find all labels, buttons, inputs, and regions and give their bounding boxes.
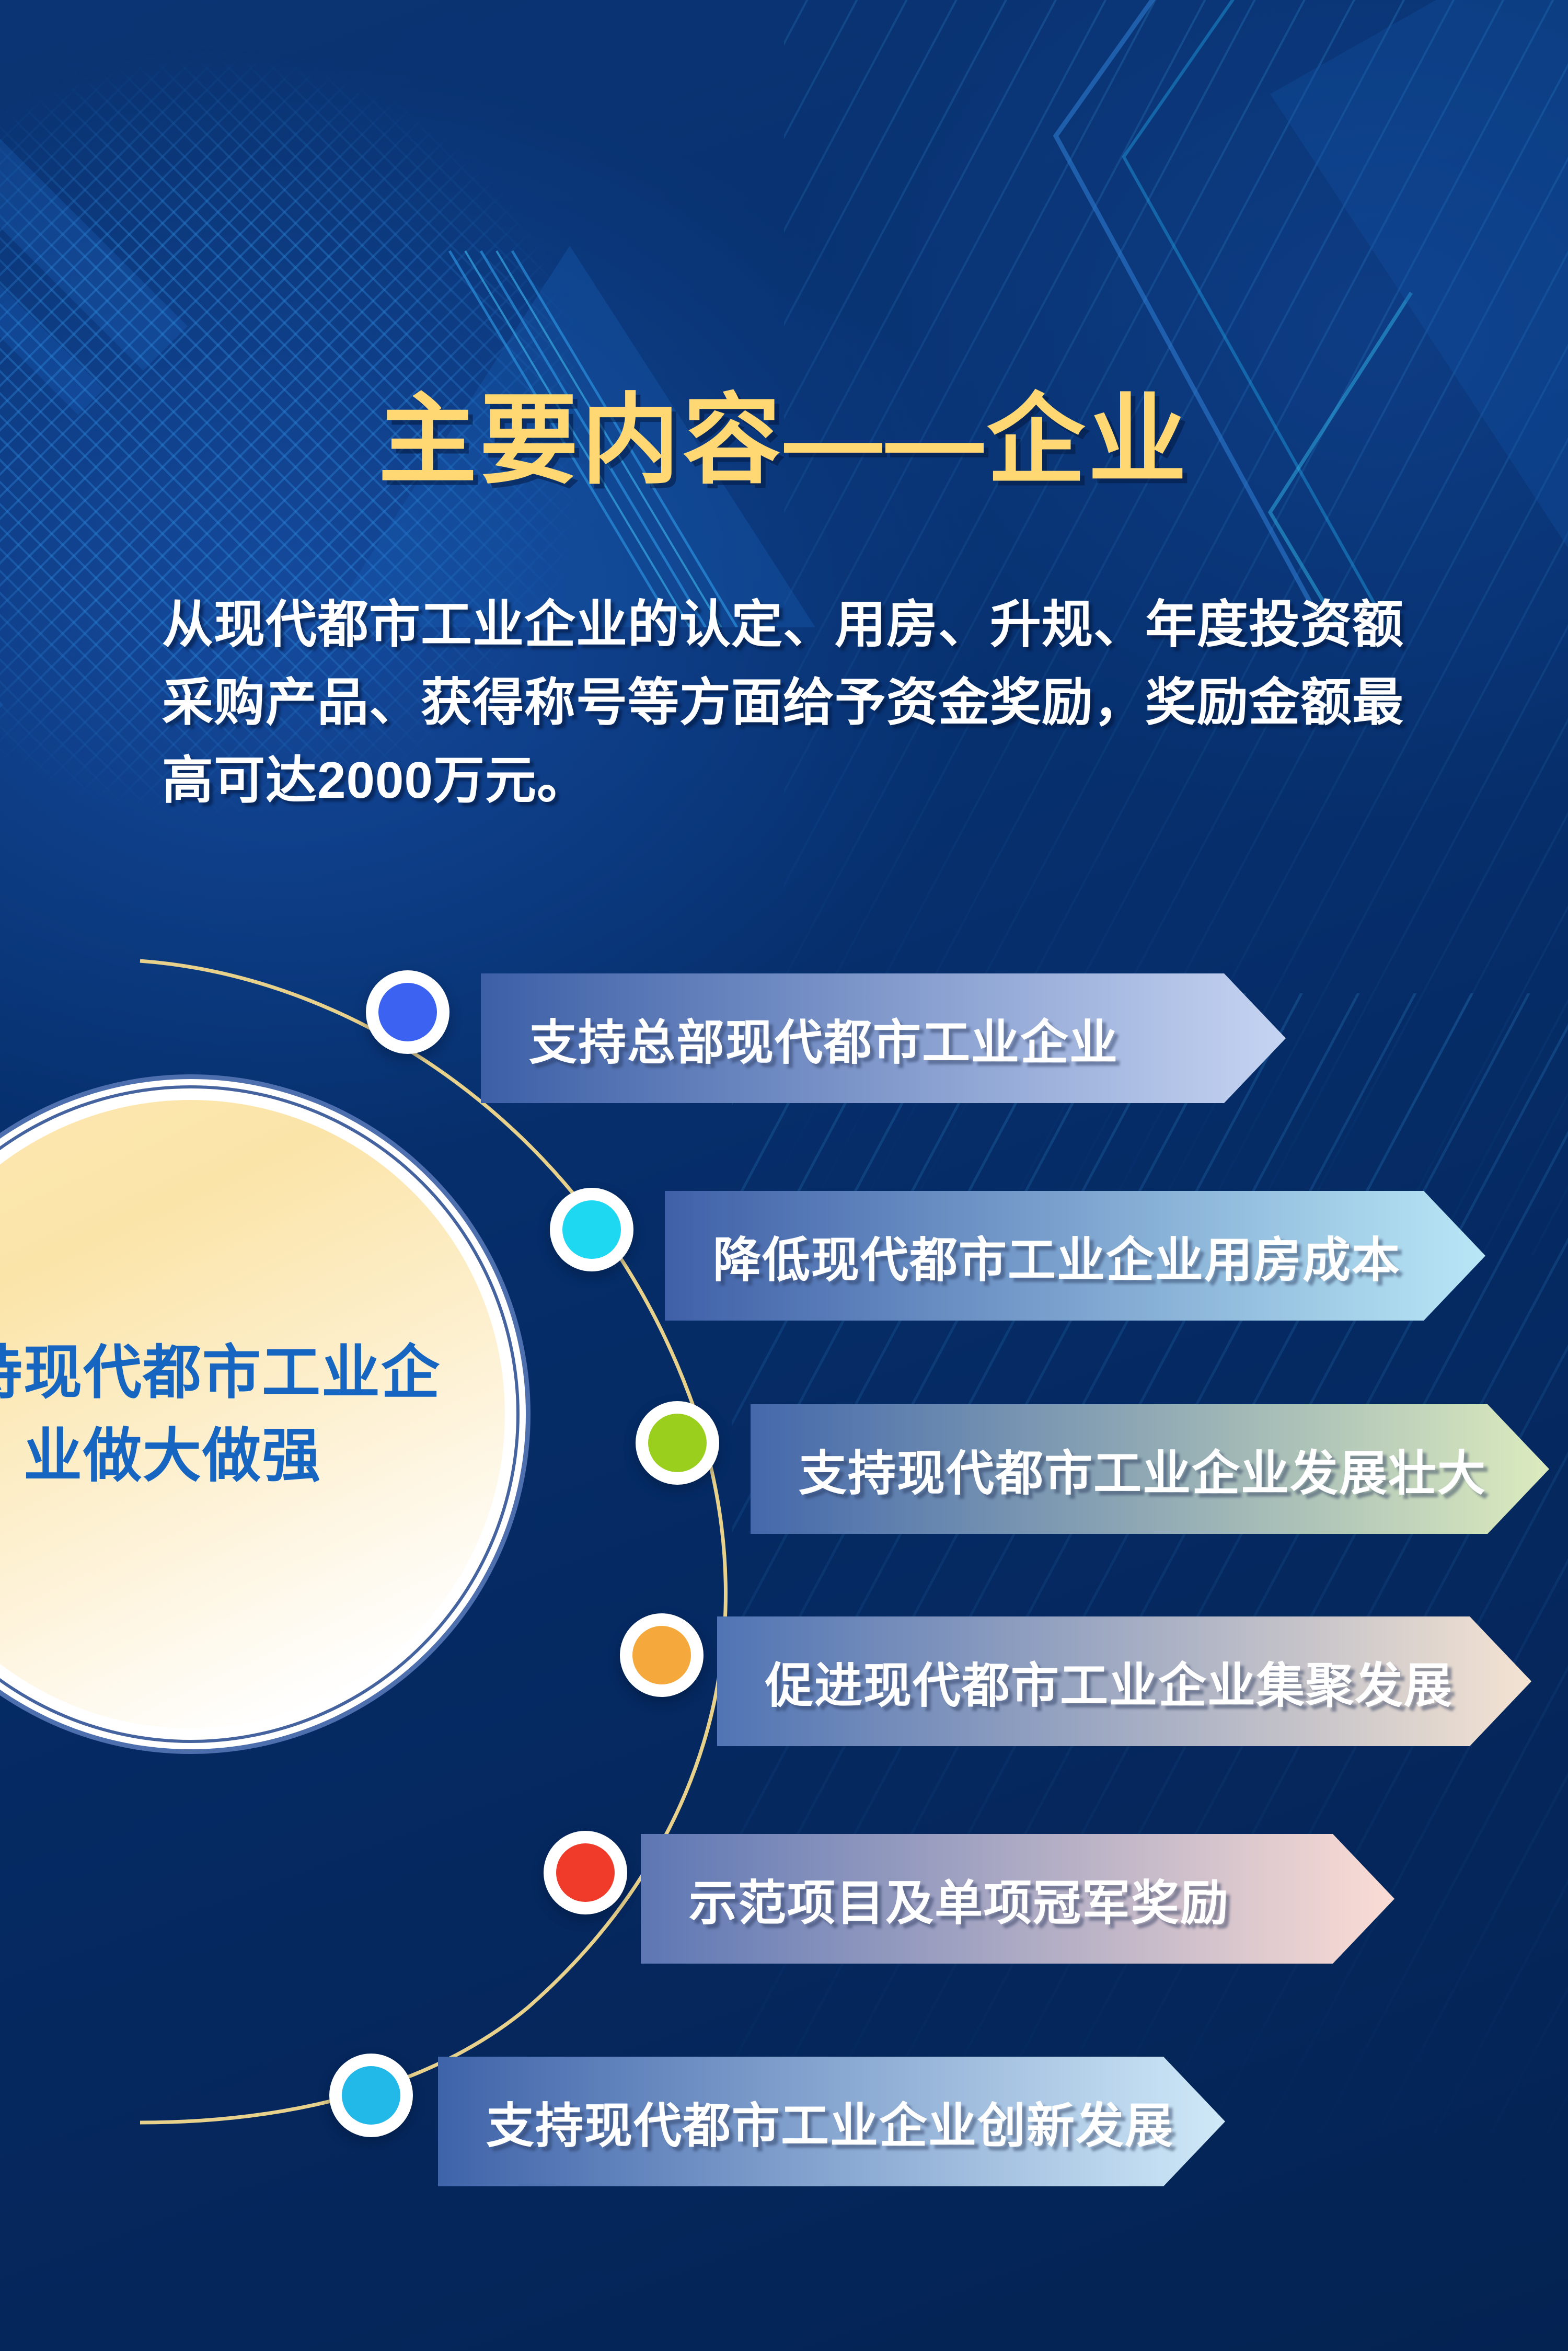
item-banner-6[interactable]: 支持现代都市工业企业创新发展: [438, 2057, 1225, 2186]
item-banner-label-2: 降低现代都市工业企业用房成本: [665, 1221, 1401, 1291]
item-dot-core-6: [342, 2066, 400, 2125]
item-dot-6[interactable]: [329, 2054, 413, 2137]
item-dot-3[interactable]: [636, 1401, 719, 1485]
item-banner-2[interactable]: 降低现代都市工业企业用房成本: [665, 1191, 1485, 1321]
item-banner-3[interactable]: 支持现代都市工业企业发展壮大: [751, 1404, 1549, 1534]
item-banner-5[interactable]: 示范项目及单项冠军奖励: [641, 1834, 1394, 1964]
item-dot-core-5: [556, 1843, 615, 1902]
item-banner-label-6: 支持现代都市工业企业创新发展: [438, 2087, 1174, 2157]
item-banner-label-3: 支持现代都市工业企业发展壮大: [751, 1435, 1486, 1504]
item-dot-core-4: [632, 1626, 691, 1684]
item-banner-label-5: 示范项目及单项冠军奖励: [641, 1864, 1229, 1934]
item-dot-2[interactable]: [550, 1188, 633, 1271]
item-dot-core-2: [562, 1200, 621, 1259]
item-banner-label-4: 促进现代都市工业企业集聚发展: [717, 1647, 1453, 1716]
infographic-slide: 主要内容——企业 从现代都市工业企业的认定、用房、升规、年度投资额采购产品、获得…: [0, 0, 1568, 2351]
item-banner-1[interactable]: 支持总部现代都市工业企业: [481, 973, 1286, 1103]
hub-label: 支持现代都市工业企业做大做强: [0, 1331, 463, 1497]
item-dot-core-3: [648, 1414, 707, 1472]
item-dot-core-1: [378, 983, 437, 1041]
item-banner-label-1: 支持总部现代都市工业企业: [481, 1004, 1119, 1073]
item-dot-4[interactable]: [620, 1613, 704, 1697]
item-dot-5[interactable]: [544, 1831, 627, 1914]
hub-circle: 支持现代都市工业企业做大做强: [0, 1074, 531, 1754]
item-dot-1[interactable]: [366, 970, 449, 1054]
item-banner-4[interactable]: 促进现代都市工业企业集聚发展: [717, 1616, 1531, 1746]
